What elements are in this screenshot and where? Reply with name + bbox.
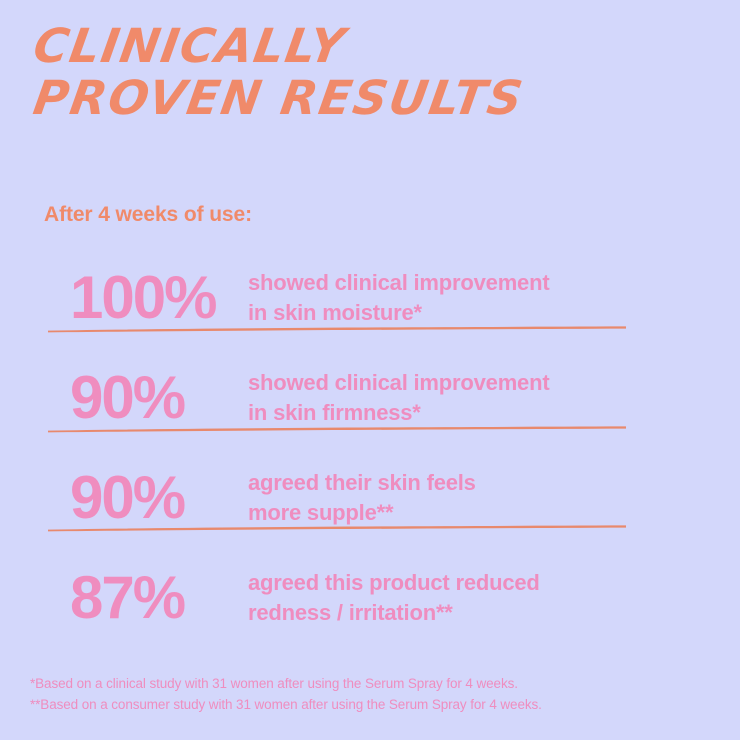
stat-value: 87% [70, 567, 248, 629]
stat-row: 90% showed clinical improvement in skin … [0, 348, 740, 448]
stat-description: agreed this product reduced redness / ir… [248, 568, 540, 628]
page-title: Clinically Proven Results [34, 22, 694, 124]
stat-description: showed clinical improvement in skin firm… [248, 368, 549, 428]
subheading: After 4 weeks of use: [44, 203, 252, 227]
stat-row: 100% showed clinical improvement in skin… [0, 248, 740, 348]
stat-description-line-1: agreed their skin feels [248, 468, 476, 498]
stat-row: 90% agreed their skin feels more supple*… [0, 448, 740, 548]
stat-description-line-2: redness / irritation** [248, 598, 540, 628]
stat-value: 100% [70, 267, 248, 329]
stat-description-line-1: showed clinical improvement [248, 368, 549, 398]
stat-description: showed clinical improvement in skin mois… [248, 268, 549, 328]
stat-description-line-2: more supple** [248, 498, 476, 528]
stats-list: 100% showed clinical improvement in skin… [0, 248, 740, 648]
footnotes: *Based on a clinical study with 31 women… [30, 673, 542, 715]
clinical-results-poster: Clinically Proven Results After 4 weeks … [0, 0, 740, 740]
stat-description-line-2: in skin moisture* [248, 298, 549, 328]
page-title-line-1: Clinically [30, 22, 698, 72]
footnote-single-asterisk: *Based on a clinical study with 31 women… [30, 673, 542, 694]
footnote-double-asterisk: **Based on a consumer study with 31 wome… [30, 694, 542, 715]
stat-description-line-1: showed clinical improvement [248, 268, 549, 298]
stat-description-line-1: agreed this product reduced [248, 568, 540, 598]
stat-value: 90% [70, 467, 248, 529]
page-title-line-2: Proven Results [30, 74, 698, 124]
stat-description: agreed their skin feels more supple** [248, 468, 476, 528]
stat-value: 90% [70, 367, 248, 429]
stat-description-line-2: in skin firmness* [248, 398, 549, 428]
stat-row: 87% agreed this product reduced redness … [0, 548, 740, 648]
